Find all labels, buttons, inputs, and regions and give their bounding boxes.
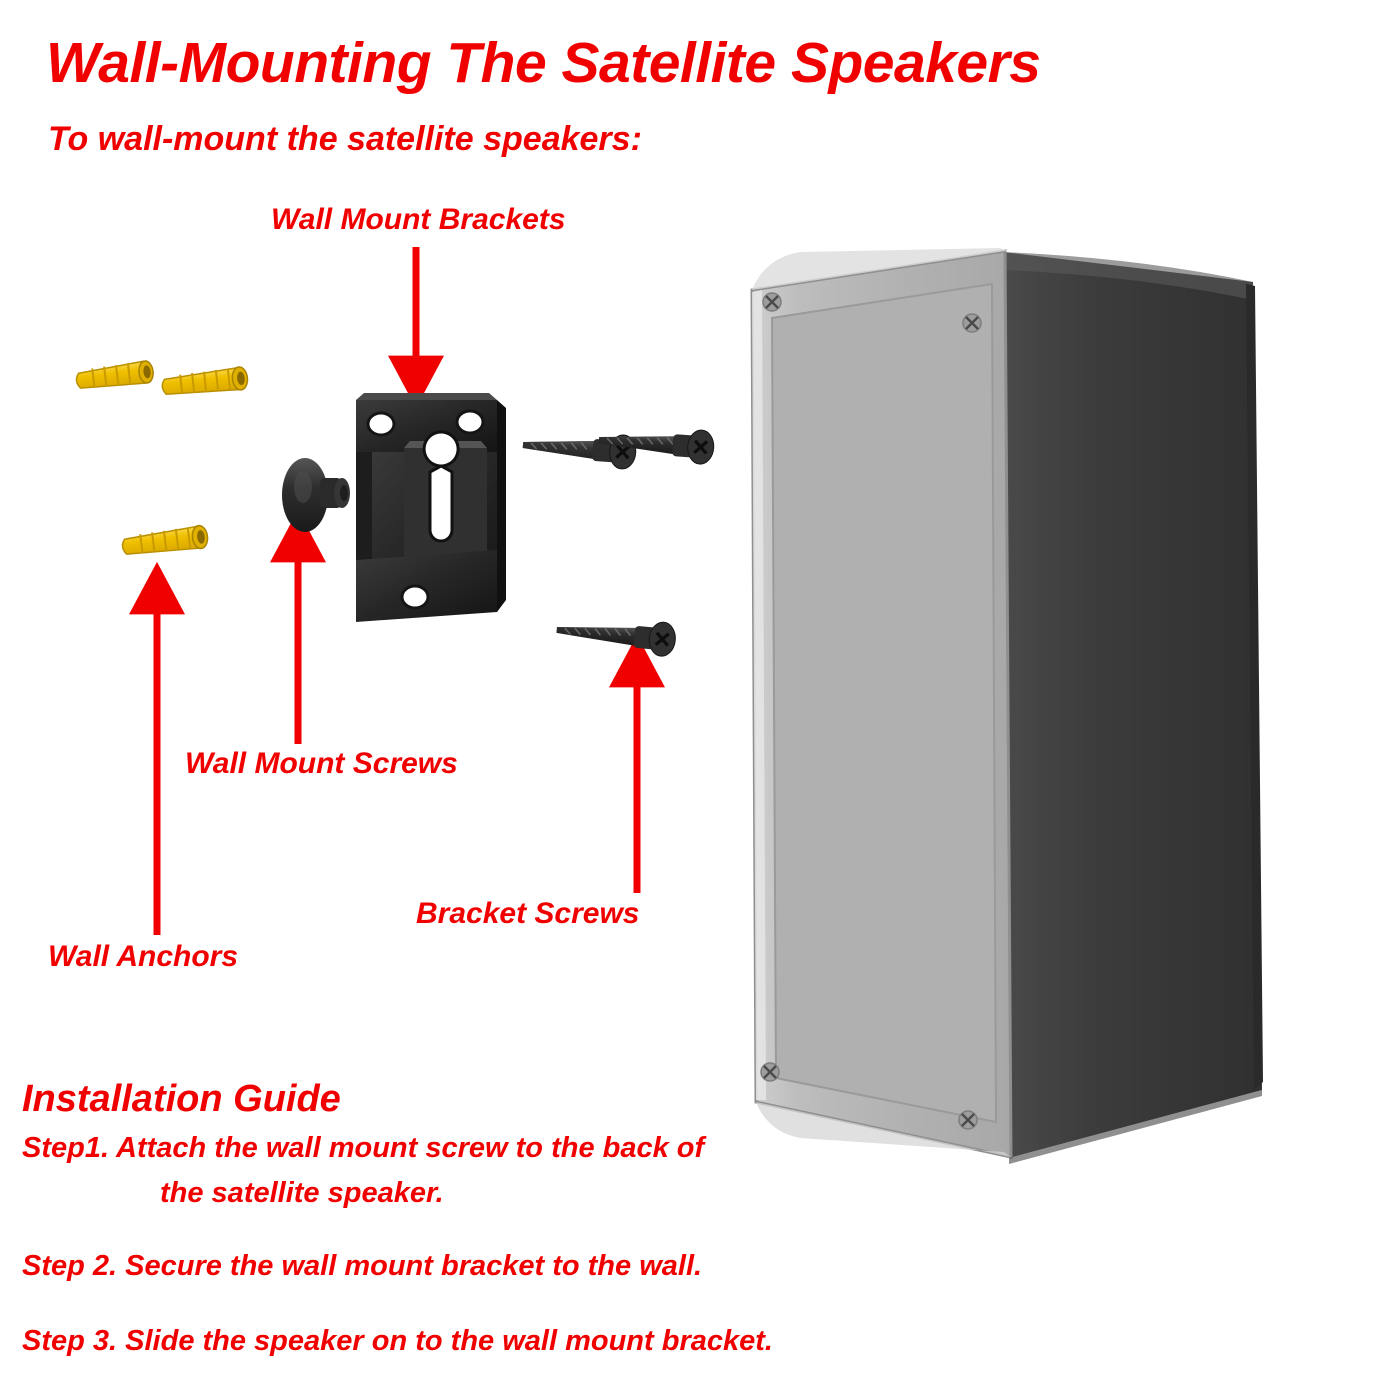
wall-mount-bracket <box>356 393 506 622</box>
speaker-corner-screw-top-left <box>763 293 781 311</box>
exploded-parts-illustration <box>0 0 1400 1400</box>
wall-anchor-1 <box>75 360 154 391</box>
bracket-screw-3 <box>555 613 677 657</box>
speaker-corner-screw-bottom-left <box>761 1063 779 1081</box>
satellite-speaker <box>752 248 1263 1164</box>
speaker-corner-screw-bottom-right <box>959 1111 977 1129</box>
bracket-screw-1 <box>522 428 637 470</box>
wall-anchor-2 <box>161 366 248 398</box>
speaker-corner-screw-top-right <box>963 314 981 332</box>
wall-anchor-3 <box>121 525 209 558</box>
wall-mount-screw <box>282 458 350 532</box>
diagram-canvas: Wall-Mounting The Satellite Speakers To … <box>0 0 1400 1400</box>
